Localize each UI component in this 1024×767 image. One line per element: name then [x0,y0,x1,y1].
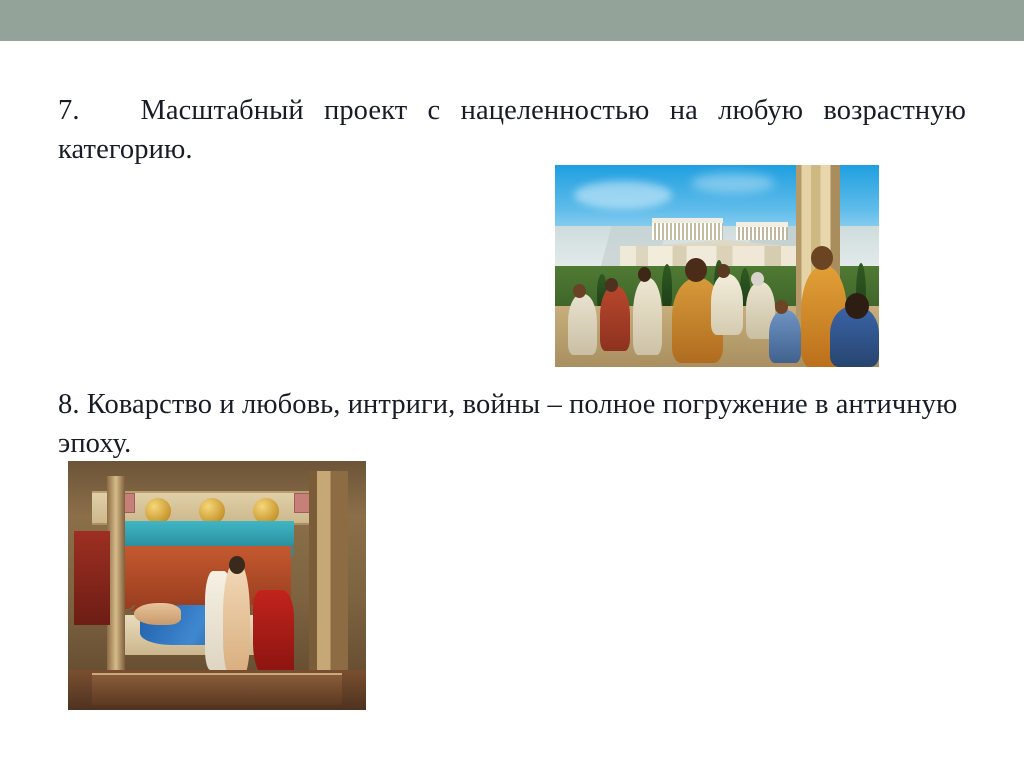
painting-figure-child [769,310,801,363]
presentation-slide: 7. Масштабный проект с нацеленностью на … [0,0,1024,767]
bullet-text-8: 8. Коварство и любовь, интриги, войны – … [58,386,966,464]
painting-figure-head [811,246,833,270]
painting-rug [92,673,342,705]
painting-figure [633,278,662,355]
painting-figure-head [685,258,707,282]
slide-top-decorative-band [0,0,1024,41]
painting-parthenon-temple [652,218,723,240]
painting-cypress-tree [662,264,672,310]
painting-figure-head [638,267,651,282]
painting-figure [568,294,597,355]
painting-standing-figure-head [229,556,245,574]
painting-figure [711,274,743,335]
ancient-athens-agora-painting [555,165,879,367]
painting-secondary-temple [736,222,788,240]
painting-left-red-wall [74,531,110,626]
painting-reclining-figure [134,603,182,625]
painting-red-drapery [253,590,295,680]
antique-interior-painting [68,461,366,710]
painting-figure-head [845,293,869,319]
painting-right-pillar [309,471,348,680]
painting-bed-canopy [116,521,295,548]
bullet-text-7: 7. Масштабный проект с нацеленностью на … [58,92,966,170]
painting-figure [600,286,629,351]
painting-standing-figure [223,561,250,681]
